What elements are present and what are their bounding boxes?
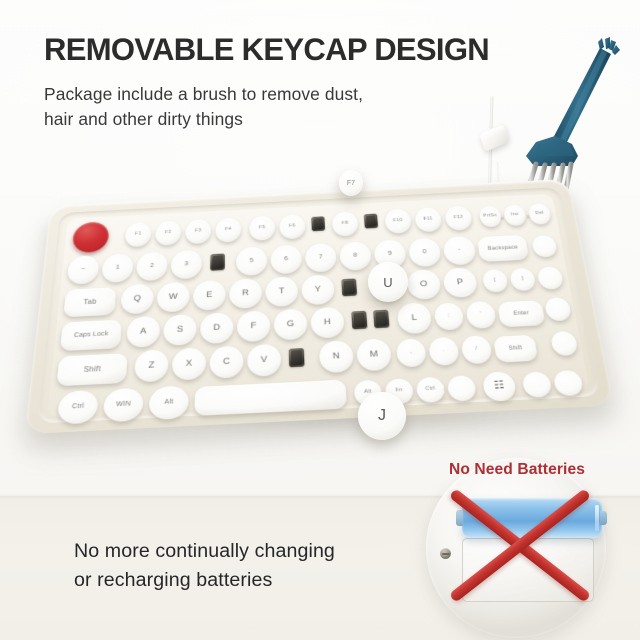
- key-t[interactable]: T: [265, 276, 298, 307]
- key-5[interactable]: 5: [236, 246, 267, 276]
- empty-switch-socket-f7[interactable]: [311, 216, 325, 231]
- key-s[interactable]: S: [163, 314, 197, 346]
- bottom-message-line-2: or recharging batteries: [74, 566, 434, 595]
- bottom-message: No more continually changing or rechargi…: [74, 537, 434, 594]
- key-delete[interactable]: Del: [527, 203, 552, 225]
- key-m[interactable]: M: [356, 338, 392, 371]
- subheading-line-2: hair and other dirty things: [44, 107, 444, 132]
- keyboard-plate: F1 F2 F3 F4 F5 F6 F8 F10 F11 F12 PrtSc I…: [47, 194, 590, 418]
- key-w[interactable]: W: [157, 282, 190, 313]
- key-tilde[interactable]: ~: [67, 255, 100, 285]
- key-shift-left[interactable]: Shift: [56, 353, 127, 386]
- key-f[interactable]: F: [237, 310, 270, 342]
- key-e[interactable]: E: [193, 280, 226, 311]
- key-f2[interactable]: F2: [155, 221, 181, 246]
- key-7[interactable]: 7: [305, 243, 337, 273]
- key-shift-right[interactable]: Shift: [493, 335, 538, 363]
- keycap-stem: [378, 436, 387, 447]
- key-3[interactable]: 3: [171, 250, 202, 280]
- key-printscreen[interactable]: PrtSc: [478, 206, 502, 228]
- key-period[interactable]: .: [428, 337, 460, 366]
- key-1[interactable]: 1: [101, 253, 134, 283]
- key-l[interactable]: L: [396, 302, 432, 334]
- key-a[interactable]: A: [126, 316, 160, 348]
- empty-switch-socket-k[interactable]: [373, 310, 389, 328]
- key-f8[interactable]: F8: [332, 212, 359, 237]
- key-n[interactable]: N: [319, 340, 354, 373]
- key-f10[interactable]: F10: [384, 209, 412, 234]
- key-insert[interactable]: Ins: [503, 204, 527, 226]
- key-slash[interactable]: /: [461, 335, 493, 364]
- battery-terminal: [600, 511, 607, 525]
- product-marketing-image: REMOVABLE KEYCAP DESIGN Package include …: [0, 0, 640, 640]
- key-escape[interactable]: [72, 221, 110, 253]
- key-8[interactable]: 8: [339, 241, 372, 271]
- empty-switch-socket-b[interactable]: [289, 348, 305, 367]
- key-o[interactable]: O: [406, 269, 442, 300]
- key-f11[interactable]: F11: [414, 207, 442, 232]
- bottom-message-line-1: No more continually changing: [74, 537, 434, 566]
- key-caps-lock[interactable]: Caps Lock: [60, 320, 122, 352]
- detached-keycap-j[interactable]: J: [358, 392, 406, 440]
- empty-switch-socket-u[interactable]: [341, 278, 357, 296]
- key-2[interactable]: 2: [136, 252, 168, 282]
- key-f3[interactable]: F3: [185, 219, 211, 244]
- key-quote[interactable]: ': [465, 301, 497, 329]
- key-d[interactable]: D: [200, 312, 233, 344]
- subheading-line-1: Package include a brush to remove dust,: [44, 82, 444, 107]
- no-batteries-badge: No Need Batteries: [418, 452, 616, 638]
- key-f5[interactable]: F5: [249, 216, 275, 241]
- key-comma[interactable]: ,: [396, 338, 427, 367]
- empty-switch-socket-4[interactable]: [210, 254, 225, 271]
- detached-keycap-f7[interactable]: F7: [339, 170, 363, 196]
- key-x[interactable]: X: [172, 347, 206, 380]
- key-f4[interactable]: F4: [215, 218, 241, 243]
- subheading: Package include a brush to remove dust, …: [44, 82, 444, 131]
- key-backspace[interactable]: Backspace: [477, 235, 529, 262]
- detached-keycap-u[interactable]: U: [368, 262, 408, 302]
- key-enter[interactable]: Enter: [497, 300, 545, 327]
- key-6[interactable]: 6: [271, 245, 303, 275]
- keyboard: F1 F2 F3 F4 F5 F6 F8 F10 F11 F12 PrtSc I…: [24, 179, 615, 440]
- empty-switch-socket-f9[interactable]: [364, 214, 378, 229]
- key-0[interactable]: 0: [408, 238, 442, 268]
- key-minus[interactable]: -: [442, 236, 477, 266]
- key-f1[interactable]: F1: [125, 222, 152, 247]
- key-semicolon[interactable]: ;: [433, 303, 464, 331]
- key-tab[interactable]: Tab: [63, 287, 116, 317]
- empty-switch-socket-j[interactable]: [351, 311, 367, 329]
- key-v[interactable]: V: [247, 344, 281, 377]
- badge-title: No Need Batteries: [418, 461, 616, 479]
- key-z[interactable]: Z: [134, 349, 169, 382]
- keyboard-product-photo: F1 F2 F3 F4 F5 F6 F8 F10 F11 F12 PrtSc I…: [34, 164, 614, 464]
- key-c[interactable]: C: [210, 346, 244, 379]
- key-f12[interactable]: F12: [444, 206, 473, 231]
- key-numpad-divide[interactable]: [537, 266, 565, 289]
- key-h[interactable]: H: [310, 307, 344, 339]
- screw-icon: [440, 548, 451, 559]
